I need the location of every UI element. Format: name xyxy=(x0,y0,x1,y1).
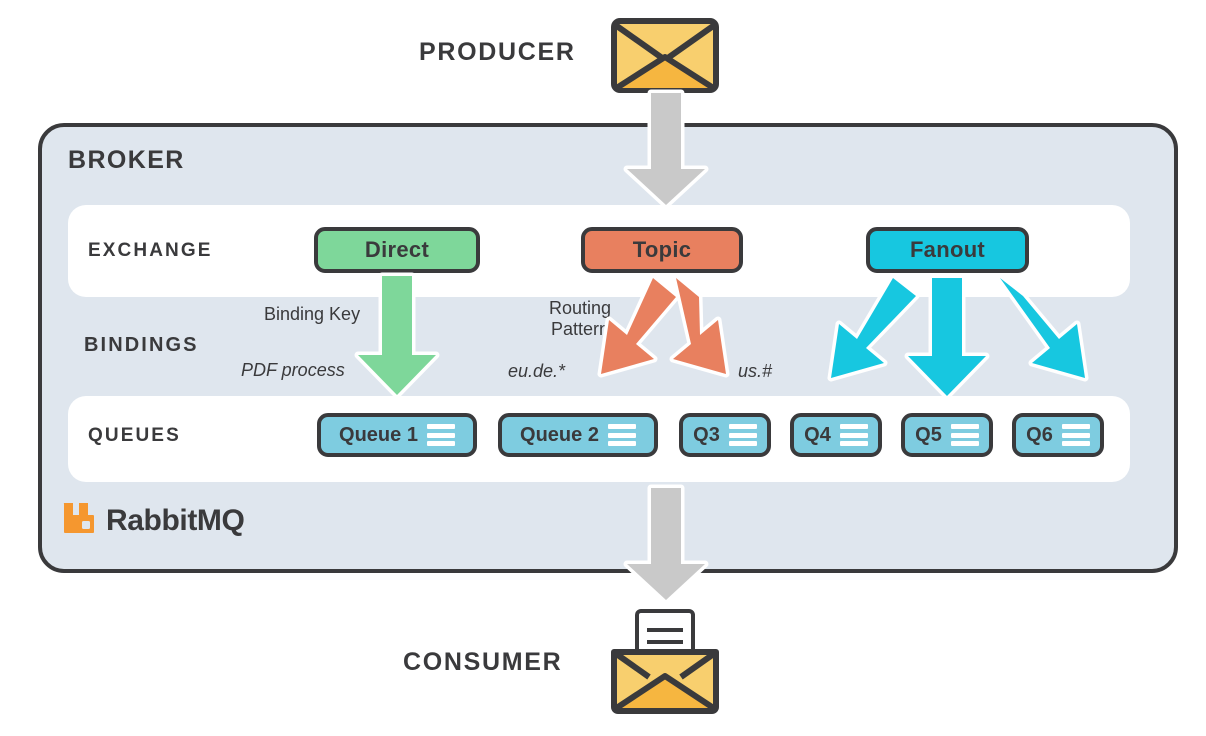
exchange-topic[interactable]: Topic xyxy=(581,227,743,273)
queue-q5[interactable]: Q5 xyxy=(901,413,993,457)
binding-key-title: Binding Key xyxy=(264,304,360,325)
queue-stack-icon xyxy=(427,424,455,446)
queue-q3-label: Q3 xyxy=(693,424,720,447)
binding-key-value: PDF process xyxy=(241,360,345,381)
queue-stack-icon xyxy=(729,424,757,446)
routing-pattern-value-right: us.# xyxy=(738,361,772,382)
rabbitmq-mark-icon xyxy=(62,501,96,540)
queue-q1-label: Queue 1 xyxy=(339,424,418,447)
queue-stack-icon xyxy=(1062,424,1090,446)
queues-row-label: QUEUES xyxy=(88,425,181,447)
routing-pattern-value-left: eu.de.* xyxy=(508,361,565,382)
exchange-fanout[interactable]: Fanout xyxy=(866,227,1029,273)
queue-q1[interactable]: Queue 1 xyxy=(317,413,477,457)
rabbitmq-logo: RabbitMQ xyxy=(62,501,244,540)
queue-q4-label: Q4 xyxy=(804,424,831,447)
queue-q3[interactable]: Q3 xyxy=(679,413,771,457)
exchange-row-label: EXCHANGE xyxy=(88,240,212,262)
queue-q4[interactable]: Q4 xyxy=(790,413,882,457)
queue-q6-label: Q6 xyxy=(1026,424,1053,447)
producer-label: PRODUCER xyxy=(419,38,576,67)
queue-q2-label: Queue 2 xyxy=(520,424,599,447)
queue-q5-label: Q5 xyxy=(915,424,942,447)
queue-stack-icon xyxy=(608,424,636,446)
bindings-row-label: BINDINGS xyxy=(84,334,199,357)
queue-stack-icon xyxy=(840,424,868,446)
queue-stack-icon xyxy=(951,424,979,446)
queue-q6[interactable]: Q6 xyxy=(1012,413,1104,457)
consumer-envelope-icon xyxy=(609,608,721,719)
rabbitmq-wordmark: RabbitMQ xyxy=(106,504,244,538)
routing-pattern-title: Routing Pattern xyxy=(537,298,623,340)
broker-label: BROKER xyxy=(68,146,185,175)
diagram-canvas: PRODUCER BROKER EXCHANGE BINDINGS QUEUES… xyxy=(0,0,1206,736)
queue-q2[interactable]: Queue 2 xyxy=(498,413,658,457)
exchange-direct[interactable]: Direct xyxy=(314,227,480,273)
producer-envelope-icon xyxy=(611,18,719,98)
consumer-label: CONSUMER xyxy=(403,648,562,677)
